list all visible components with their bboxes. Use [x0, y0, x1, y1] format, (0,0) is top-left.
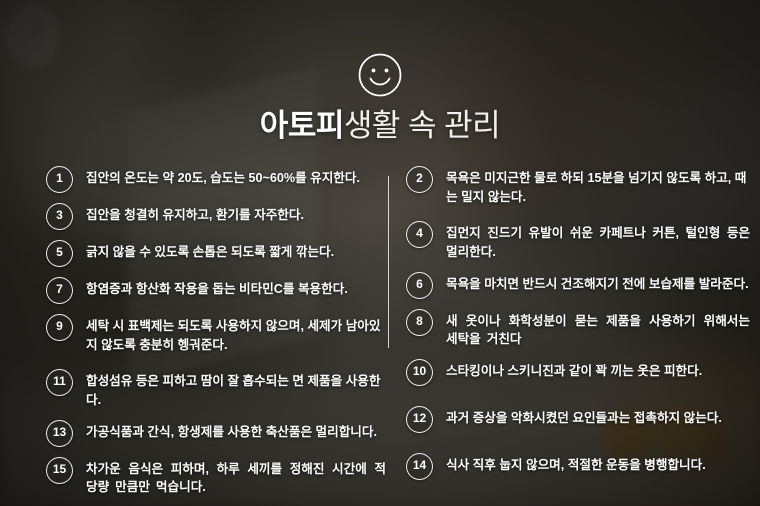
- tip-number-badge: 1: [46, 166, 73, 193]
- tip-number-badge: 4: [406, 221, 433, 248]
- column-divider: [388, 176, 389, 348]
- tip-item-9: 9세탁 시 표백제는 되도록 사용하지 않으며, 세제가 남아있지 않도록 충분…: [46, 314, 386, 355]
- tip-number-badge: 13: [46, 420, 73, 447]
- tip-number-badge: 2: [406, 166, 433, 193]
- tip-item-15: 15차가운 음식은 피하며, 하루 세끼를 정해진 시간에 적당량 만큼만 먹습…: [46, 457, 386, 498]
- tip-item-12: 12과거 증상을 악화시켰던 요인들과는 접촉하지 않는다.: [406, 406, 750, 433]
- tip-item-3: 3집안을 청결히 유지하고, 환기를 자주한다.: [46, 203, 386, 230]
- tip-number-badge: 15: [46, 457, 73, 484]
- tip-number-badge: 9: [46, 314, 73, 341]
- tip-text: 새 옷이나 화학성분이 묻는 제품을 사용하기 위해서는 세탁을 거친다: [446, 309, 750, 350]
- tip-item-1: 1집안의 온도는 약 20도, 습도는 50~60%를 유지한다.: [46, 166, 386, 193]
- tip-text: 항염증과 항산화 작용을 돕는 비타민C를 복용한다.: [86, 277, 348, 299]
- tip-item-8: 8새 옷이나 화학성분이 묻는 제품을 사용하기 위해서는 세탁을 거친다: [406, 309, 750, 350]
- tip-text: 집안을 청결히 유지하고, 환기를 자주한다.: [86, 203, 304, 225]
- tip-text: 집먼지 진드기 유발이 쉬운 카페트나 커튼, 털인형 등은 멀리한다.: [446, 221, 750, 262]
- tip-text: 집안의 온도는 약 20도, 습도는 50~60%를 유지한다.: [86, 166, 360, 188]
- tip-text: 과거 증상을 악화시켰던 요인들과는 접촉하지 않는다.: [446, 406, 722, 428]
- title-subtext: 생활 속 관리: [344, 108, 500, 143]
- tip-item-11: 11합성섬유 등은 피하고 땀이 잘 흡수되는 면 제품을 사용한다.: [46, 369, 386, 410]
- tip-item-6: 6목욕을 마치면 반드시 건조해지기 전에 보습제를 발라준다.: [406, 272, 750, 299]
- tip-item-4: 4집먼지 진드기 유발이 쉬운 카페트나 커튼, 털인형 등은 멀리한다.: [406, 221, 750, 262]
- tip-item-13: 13가공식품과 간식, 항생제를 사용한 축산품은 멀리합니다.: [46, 420, 386, 447]
- tip-item-14: 14식사 직후 눕지 않으며, 적절한 운동을 병행합니다.: [406, 453, 750, 480]
- tips-column-right: 2목욕은 미지근한 물로 하되 15분을 넘기지 않도록 하고, 때는 밀지 않…: [406, 166, 750, 494]
- tip-item-10: 10스타킹이나 스키니진과 같이 꽉 끼는 옷은 피한다.: [406, 359, 750, 386]
- smiley-face-icon: [357, 52, 403, 98]
- tips-column-left: 1집안의 온도는 약 20도, 습도는 50~60%를 유지한다.3집안을 청결…: [46, 166, 386, 506]
- tip-text: 식사 직후 눕지 않으며, 적절한 운동을 병행합니다.: [446, 453, 706, 475]
- tip-text: 합성섬유 등은 피하고 땀이 잘 흡수되는 면 제품을 사용한다.: [86, 369, 386, 410]
- tip-number-badge: 7: [46, 277, 73, 304]
- tip-text: 스타킹이나 스키니진과 같이 꽉 끼는 옷은 피한다.: [446, 359, 702, 381]
- tip-text: 가공식품과 간식, 항생제를 사용한 축산품은 멀리합니다.: [86, 420, 377, 442]
- tip-number-badge: 6: [406, 272, 433, 299]
- tip-number-badge: 3: [46, 203, 73, 230]
- tip-number-badge: 5: [46, 240, 73, 267]
- tip-number-badge: 10: [406, 359, 433, 386]
- tip-text: 목욕을 마치면 반드시 건조해지기 전에 보습제를 발라준다.: [446, 272, 749, 294]
- title-keyword: 아토피: [260, 108, 344, 143]
- page-title: 아토피생활 속 관리: [0, 110, 760, 141]
- header: 아토피생활 속 관리: [0, 52, 760, 141]
- tip-text: 세탁 시 표백제는 되도록 사용하지 않으며, 세제가 남아있지 않도록 충분히…: [86, 314, 386, 355]
- tip-item-5: 5긁지 않을 수 있도록 손톱은 되도록 짧게 깎는다.: [46, 240, 386, 267]
- tip-item-2: 2목욕은 미지근한 물로 하되 15분을 넘기지 않도록 하고, 때는 밀지 않…: [406, 166, 750, 207]
- content-layer: 아토피생활 속 관리 1집안의 온도는 약 20도, 습도는 50~60%를 유…: [0, 0, 760, 506]
- tip-text: 목욕은 미지근한 물로 하되 15분을 넘기지 않도록 하고, 때는 밀지 않는…: [446, 166, 750, 207]
- tip-number-badge: 12: [406, 406, 433, 433]
- tip-number-badge: 11: [46, 369, 73, 396]
- tip-number-badge: 8: [406, 309, 433, 336]
- tip-number-badge: 14: [406, 453, 433, 480]
- tip-text: 긁지 않을 수 있도록 손톱은 되도록 짧게 깎는다.: [86, 240, 334, 262]
- tip-text: 차가운 음식은 피하며, 하루 세끼를 정해진 시간에 적당량 만큼만 먹습니다…: [86, 457, 386, 498]
- infographic-canvas: 아토피생활 속 관리 1집안의 온도는 약 20도, 습도는 50~60%를 유…: [0, 0, 760, 506]
- tip-item-7: 7항염증과 항산화 작용을 돕는 비타민C를 복용한다.: [46, 277, 386, 304]
